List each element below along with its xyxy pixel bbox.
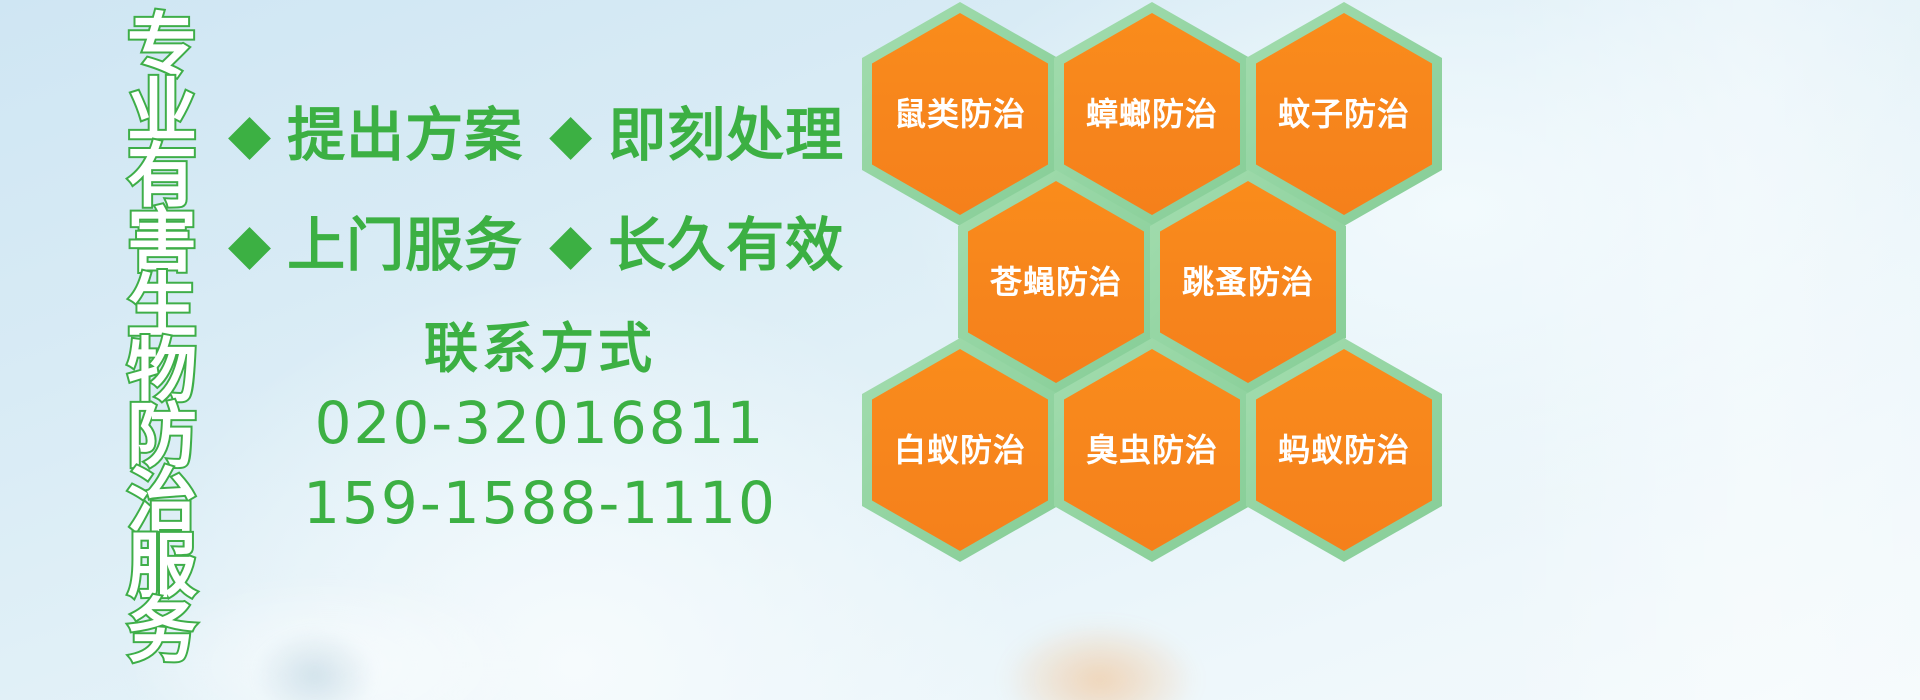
- hex-label: 跳蚤防治: [1182, 264, 1314, 300]
- hex-label: 鼠类防治: [894, 96, 1026, 132]
- feature-label: 即刻处理: [608, 105, 844, 165]
- feature-item-onsite-service: ◆ 上门服务: [228, 215, 523, 275]
- diamond-bullet-icon: ◆: [549, 217, 592, 273]
- feature-row: ◆ 提出方案 ◆ 即刻处理: [228, 80, 868, 190]
- hex-label: 白蚁防治: [894, 432, 1026, 468]
- vertical-headline: 专 业 有 害 生 物 防 治 服 务: [106, 14, 218, 674]
- contact-title: 联系方式: [280, 318, 800, 380]
- hex-cell-termite[interactable]: 白蚁防治: [862, 338, 1058, 562]
- feature-label: 上门服务: [287, 215, 523, 275]
- service-honeycomb: 鼠类防治 蟑螂防治 蚊子防治 苍蝇防治 跳蚤防治: [858, 0, 1458, 700]
- hex-label: 蚊子防治: [1278, 96, 1410, 132]
- background-blur-spot: [255, 630, 375, 700]
- hex-label: 臭虫防治: [1086, 432, 1218, 468]
- phone-number-landline[interactable]: 020-32016811: [280, 386, 800, 460]
- feature-label: 提出方案: [287, 105, 523, 165]
- hex-label: 蚂蚁防治: [1278, 432, 1410, 468]
- feature-row: ◆ 上门服务 ◆ 长久有效: [228, 190, 868, 300]
- hex-label: 蟑螂防治: [1086, 96, 1218, 132]
- hex-label: 苍蝇防治: [990, 264, 1122, 300]
- background-right-highlight: [1500, 0, 1920, 700]
- vertical-headline-char: 务: [127, 599, 197, 664]
- diamond-bullet-icon: ◆: [549, 107, 592, 163]
- diamond-bullet-icon: ◆: [228, 107, 271, 163]
- pest-control-banner: 专 业 有 害 生 物 防 治 服 务 ◆ 提出方案 ◆ 即刻处理 ◆ 上门服务: [0, 0, 1920, 700]
- phone-number-mobile[interactable]: 159-1588-1110: [280, 466, 800, 540]
- feature-list: ◆ 提出方案 ◆ 即刻处理 ◆ 上门服务 ◆ 长久有效: [228, 80, 868, 300]
- diamond-bullet-icon: ◆: [228, 217, 271, 273]
- feature-item-long-lasting: ◆ 长久有效: [549, 215, 844, 275]
- contact-block: 联系方式 020-32016811 159-1588-1110: [280, 318, 800, 540]
- feature-item-immediate-handling: ◆ 即刻处理: [549, 105, 844, 165]
- feature-item-propose-plan: ◆ 提出方案: [228, 105, 523, 165]
- hex-cell-ant[interactable]: 蚂蚁防治: [1246, 338, 1442, 562]
- hex-cell-bedbug[interactable]: 臭虫防治: [1054, 338, 1250, 562]
- feature-label: 长久有效: [608, 215, 844, 275]
